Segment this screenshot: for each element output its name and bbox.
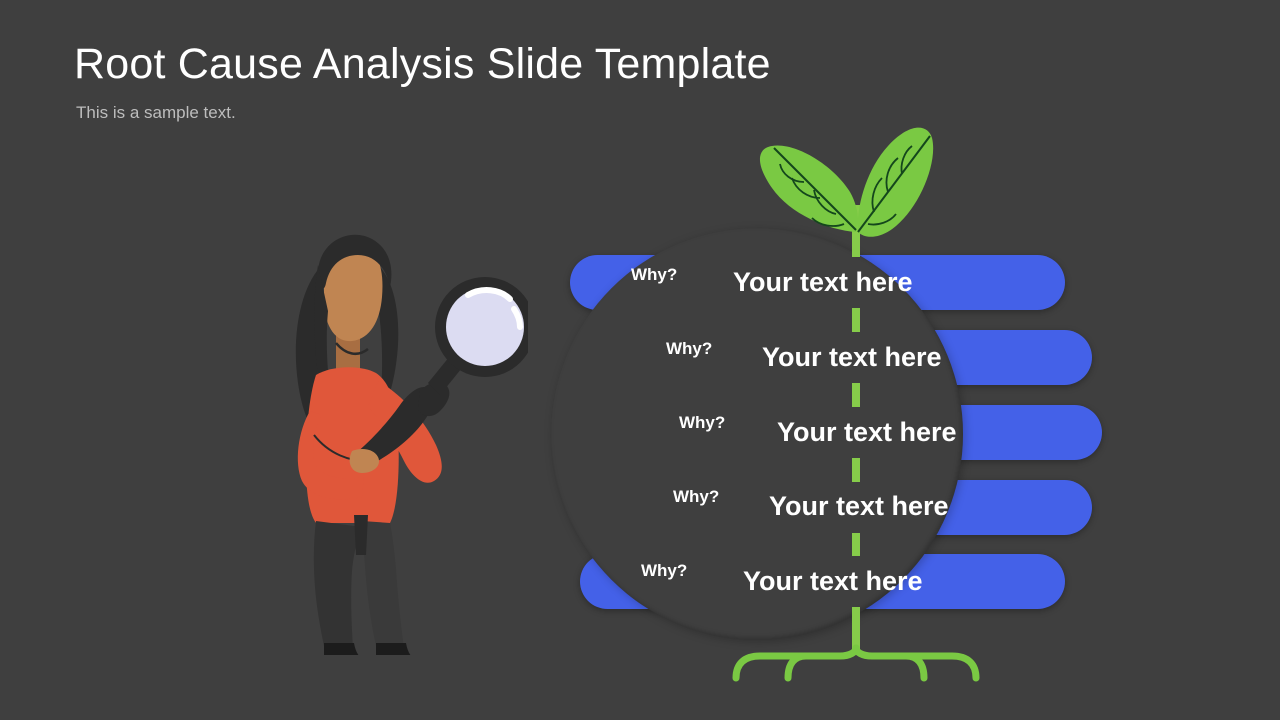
slide-canvas: Root Cause Analysis Slide Template This … <box>0 0 1280 720</box>
why-label-2: Why? <box>666 340 712 357</box>
why-label-5: Why? <box>641 562 687 579</box>
why-text-1[interactable]: Your text here <box>733 269 913 296</box>
why-text-3[interactable]: Your text here <box>777 419 957 446</box>
why-bars-stack: Why? Your text here Why? Your text here … <box>0 0 1280 720</box>
why-label-3: Why? <box>679 414 725 431</box>
why-label-1: Why? <box>631 266 677 283</box>
why-text-5[interactable]: Your text here <box>743 568 923 595</box>
why-text-4[interactable]: Your text here <box>769 493 949 520</box>
root-cause-diagram: Why? Your text here Why? Your text here … <box>0 0 1280 720</box>
why-label-4: Why? <box>673 488 719 505</box>
why-text-2[interactable]: Your text here <box>762 344 942 371</box>
